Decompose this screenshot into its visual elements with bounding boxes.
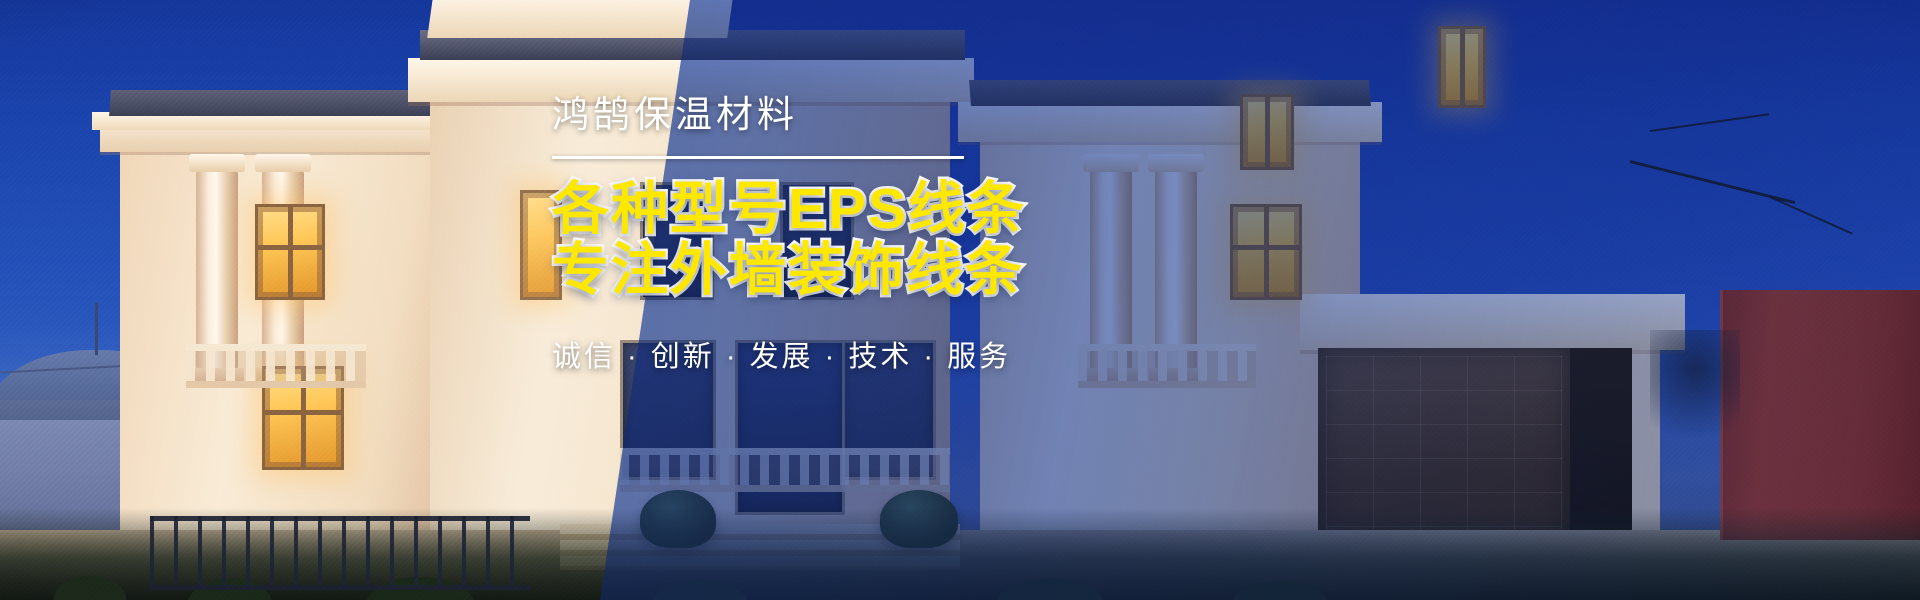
headline-line-2: 专注外墙装饰线条 [552, 240, 1452, 301]
column [196, 170, 238, 370]
iron-fence [150, 516, 530, 590]
promo-banner: 鸿鹄保温材料 各种型号EPS线条 专注外墙装饰线条 诚信 · 创新 · 发展 ·… [0, 0, 1920, 600]
headline-line-1: 各种型号EPS线条 [552, 179, 1452, 240]
lit-window [255, 204, 325, 300]
company-name: 鸿鹄保温材料 [552, 96, 1452, 133]
banner-copy: 鸿鹄保温材料 各种型号EPS线条 专注外墙装饰线条 诚信 · 创新 · 发展 ·… [552, 96, 1452, 375]
divider-rule [552, 156, 964, 159]
tagline: 诚信 · 创新 · 发展 · 技术 · 服务 [552, 333, 1452, 375]
balustrade [186, 344, 366, 388]
